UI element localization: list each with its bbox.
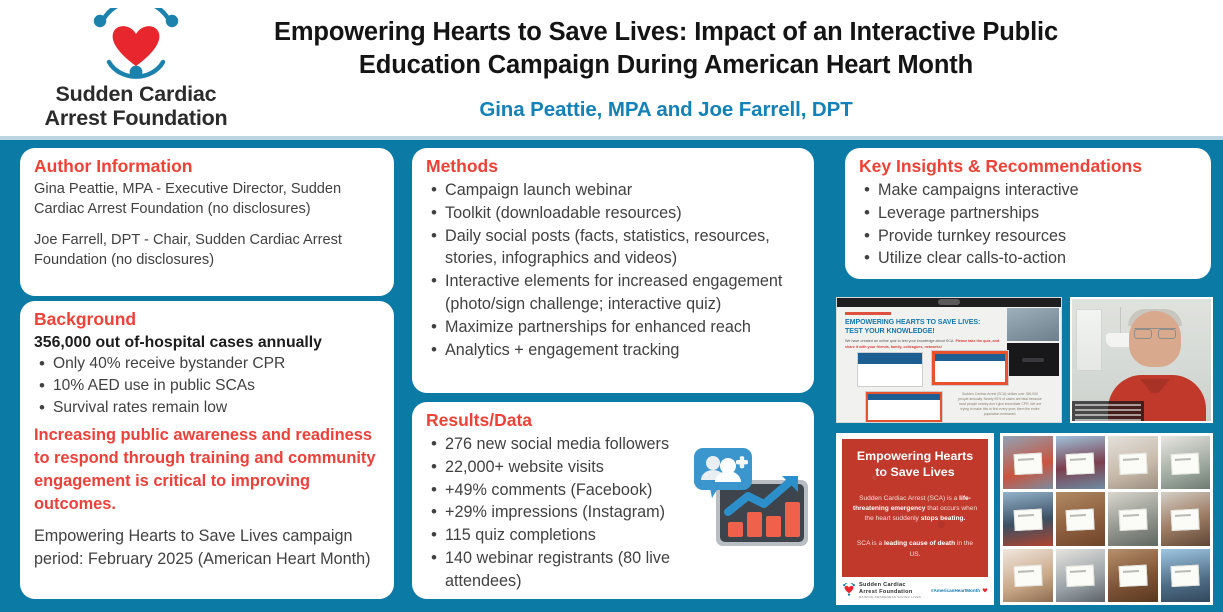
- list-item: Maximize partnerships for enhanced reach: [426, 316, 800, 339]
- list-item: Only 40% receive bystander CPR: [34, 353, 380, 375]
- flyer-body-1a: Sudden Cardiac Arrest (SCA) is a: [859, 495, 959, 502]
- title-block: Empowering Hearts to Save Lives: Impact …: [246, 16, 1086, 122]
- list-item: 276 new social media followers: [426, 433, 688, 456]
- flyer-heading-line2: to Save Lives: [851, 465, 979, 481]
- portrait-window: [1076, 309, 1102, 371]
- list-item: +29% impressions (Instagram): [426, 501, 688, 524]
- list-item: Utilize clear calls-to-action: [859, 247, 1197, 270]
- slide-subtext-line1: We have created an online quiz to test y…: [845, 339, 954, 343]
- heart-figures-icon: [81, 8, 191, 82]
- poster-title-line1: Empowering Hearts to Save Lives: Impact …: [246, 16, 1086, 49]
- webinar-presenter-webcam-portrait: [1070, 297, 1213, 423]
- list-item: Analytics + engagement tracking: [426, 339, 800, 362]
- flyer-logo-tagline: RAISING AWARENESS SAVING LIVES: [859, 596, 921, 599]
- list-item: 22,000+ website visits: [426, 456, 688, 479]
- list-item: Campaign launch webinar: [426, 179, 800, 202]
- card-title-results-data: Results/Data: [426, 410, 806, 432]
- flyer-logo: Sudden Cardiac Arrest Foundation RAISING…: [842, 581, 921, 600]
- portrait-caption-overlay: [1072, 401, 1144, 421]
- flyer-body-2: SCA is a leading cause of death in the U…: [851, 539, 979, 559]
- list-item: 10% AED use in public SCAs: [34, 375, 380, 397]
- logo-name-line1: Sudden Cardiac: [38, 83, 234, 106]
- webinar-top-bar: [837, 298, 1061, 307]
- slide-subtext: We have created an online quiz to test y…: [845, 339, 1001, 350]
- list-item: Leverage partnerships: [859, 202, 1197, 225]
- collage-photo: [1003, 549, 1053, 602]
- slide-statistic-text: Sudden Cardiac Arrest (SCA) strikes over…: [957, 390, 1043, 422]
- poster-header: Sudden Cardiac Arrest Foundation RAISING…: [0, 0, 1223, 136]
- background-emphasis-statement: Increasing public awareness and readines…: [34, 424, 380, 516]
- list-item: 140 webinar registrants (80 live attende…: [426, 547, 688, 593]
- flyer-footer: Sudden Cardiac Arrest Foundation RAISING…: [842, 578, 988, 602]
- collage-photo: [1003, 492, 1053, 545]
- poster-root: Sudden Cardiac Arrest Foundation RAISING…: [0, 0, 1223, 612]
- flyer-heart-icon: [842, 583, 856, 596]
- collage-photo: [1056, 436, 1106, 489]
- card-background: Background 356,000 out of-hospital cases…: [20, 301, 394, 599]
- empowering-hearts-social-graphic: Empowering Hearts to Save Lives Sudden C…: [836, 433, 994, 605]
- results-bullet-list: 276 new social media followers 22,000+ w…: [426, 433, 688, 593]
- organization-logo: Sudden Cardiac Arrest Foundation RAISING…: [38, 6, 234, 134]
- webinar-camera-tile-1: [1007, 308, 1059, 341]
- analytics-growth-chart-icon: [688, 446, 812, 556]
- slide-thumbnail-2: [931, 350, 1009, 386]
- methods-bullet-list: Campaign launch webinar Toolkit (downloa…: [426, 179, 800, 362]
- portrait-eyeglasses: [1134, 328, 1176, 336]
- slide-thumbnail-1: [857, 352, 923, 387]
- flyer-logo-text: Sudden Cardiac Arrest Foundation RAISING…: [859, 581, 921, 600]
- flyer-logo-name1: Sudden Cardiac: [859, 582, 921, 588]
- collage-photo: [1056, 549, 1106, 602]
- collage-photo: [1003, 436, 1053, 489]
- portrait-face: [1129, 311, 1181, 367]
- logo-name-line2: Arrest Foundation: [38, 107, 234, 130]
- poster-authors: Gina Peattie, MPA and Joe Farrell, DPT: [246, 98, 1086, 122]
- background-key-stat: 356,000 out of-hospital cases annually: [34, 332, 380, 353]
- card-results-data: Results/Data 276 new social media follow…: [412, 402, 814, 599]
- collage-grid: [1003, 436, 1210, 602]
- flyer-heading-line1: Empowering Hearts: [851, 449, 979, 465]
- insights-bullet-list: Make campaigns interactive Leverage part…: [859, 179, 1197, 270]
- collage-photo: [1161, 492, 1211, 545]
- author-paragraph-2: Joe Farrell, DPT - Chair, Sudden Cardiac…: [34, 230, 380, 270]
- small-heart-icon: [982, 587, 988, 593]
- flyer-body-1d: stops beating.: [921, 515, 966, 522]
- webinar-toolbar-pill: [938, 299, 960, 305]
- collage-photo: [1108, 549, 1158, 602]
- webinar-quiz-slide-screenshot: EMPOWERING HEARTS TO SAVE LIVES: TEST YO…: [836, 297, 1062, 423]
- author-paragraph-1: Gina Peattie, MPA - Executive Director, …: [34, 179, 380, 219]
- list-item: 115 quiz completions: [426, 524, 688, 547]
- photo-sign-challenge-participant-collage: [1000, 433, 1213, 605]
- list-item: Daily social posts (facts, statistics, r…: [426, 225, 800, 271]
- poster-title-line2: Education Campaign During American Heart…: [246, 49, 1086, 82]
- background-bullet-list: Only 40% receive bystander CPR 10% AED u…: [34, 353, 380, 419]
- portrait-lamp-stem: [1120, 307, 1121, 334]
- author-spacer: [34, 219, 380, 230]
- collage-photo: [1161, 549, 1211, 602]
- slide-thumbnail-3: [865, 391, 943, 423]
- flyer-red-panel: Empowering Hearts to Save Lives Sudden C…: [842, 439, 988, 577]
- collage-photo: [1161, 436, 1211, 489]
- list-item: Provide turnkey resources: [859, 225, 1197, 248]
- list-item: +49% comments (Facebook): [426, 479, 688, 502]
- background-campaign-period: Empowering Hearts to Save Lives campaign…: [34, 525, 380, 570]
- flyer-body-2b: leading cause of death: [884, 540, 955, 547]
- flyer-hashtag: #AmericanHeartMonth: [931, 587, 988, 593]
- card-title-methods: Methods: [426, 156, 800, 178]
- card-title-author-information: Author Information: [34, 156, 380, 178]
- card-methods: Methods Campaign launch webinar Toolkit …: [412, 148, 814, 393]
- collage-photo: [1056, 492, 1106, 545]
- card-author-information: Author Information Gina Peattie, MPA - E…: [20, 148, 394, 296]
- list-item: Make campaigns interactive: [859, 179, 1197, 202]
- list-item: Survival rates remain low: [34, 397, 380, 419]
- webinar-camera-tile-2: [1007, 343, 1059, 376]
- slide-accent-bar: [845, 312, 891, 315]
- flyer-hashtag-text: #AmericanHeartMonth: [931, 588, 980, 593]
- flyer-body-2a: SCA is a: [857, 540, 884, 547]
- collage-photo: [1108, 436, 1158, 489]
- collage-photo: [1108, 492, 1158, 545]
- flyer-body-1: Sudden Cardiac Arrest (SCA) is a life-th…: [851, 494, 979, 525]
- slide-heading: EMPOWERING HEARTS TO SAVE LIVES: TEST YO…: [845, 318, 995, 337]
- list-item: Interactive elements for increased engag…: [426, 270, 800, 316]
- card-title-background: Background: [34, 309, 380, 331]
- card-title-key-insights: Key Insights & Recommendations: [859, 156, 1197, 178]
- card-key-insights: Key Insights & Recommendations Make camp…: [845, 148, 1211, 279]
- list-item: Toolkit (downloadable resources): [426, 202, 800, 225]
